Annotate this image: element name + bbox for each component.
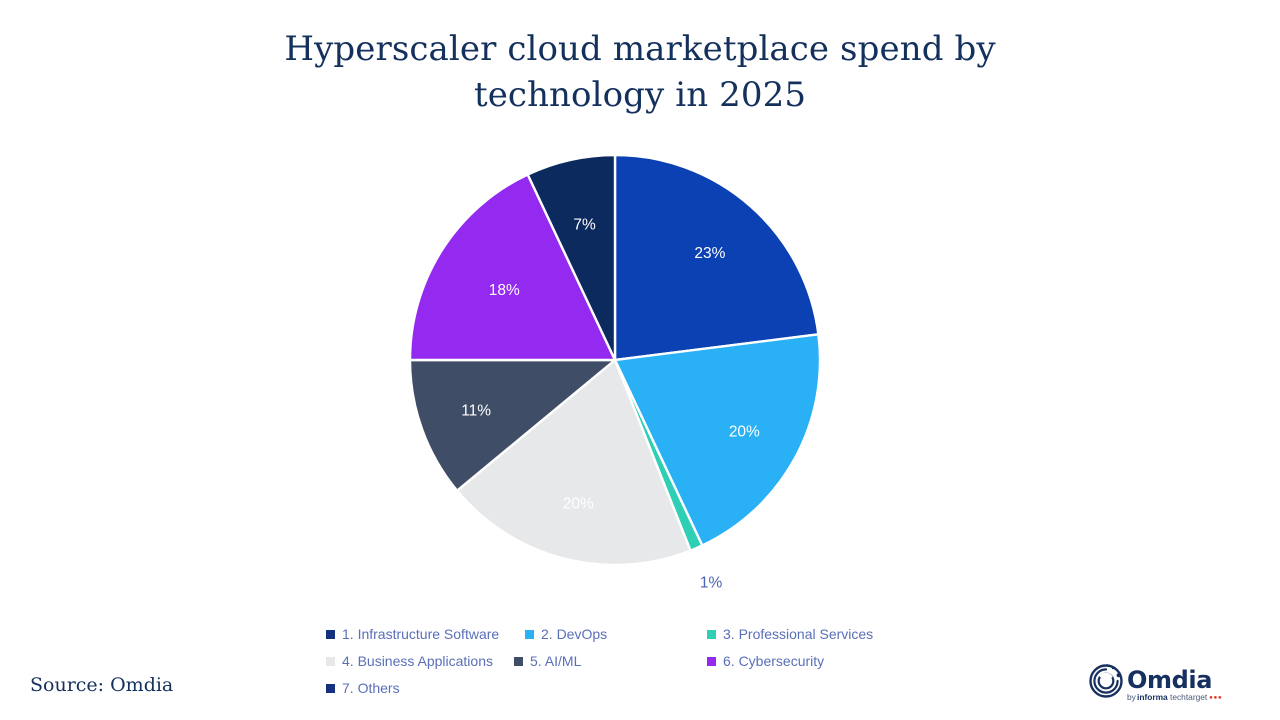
chart-title-line-1: Hyperscaler cloud marketplace spend by <box>284 29 995 69</box>
legend-label: 6. Cybersecurity <box>723 653 824 669</box>
pie-slice-label: 20% <box>729 424 760 441</box>
pie-slice-label: 7% <box>573 216 596 233</box>
legend-label: 3. Professional Services <box>723 626 873 642</box>
chart-legend: 1. Infrastructure Software 2. DevOps 3. … <box>326 622 926 694</box>
pie-slice-label: 23% <box>694 245 725 262</box>
svg-text:informa: informa <box>1137 692 1168 702</box>
pie-chart: 23%20%1%20%11%18%7% <box>380 128 850 598</box>
slide-canvas: Hyperscaler cloud marketplace spend by t… <box>0 0 1280 720</box>
legend-label: 7. Others <box>342 680 400 696</box>
legend-item-infrastructure-software[interactable]: 1. Infrastructure Software <box>326 626 499 642</box>
legend-item-ai-ml[interactable]: 5. AI/ML <box>514 653 581 669</box>
legend-swatch-icon <box>525 630 534 639</box>
omdia-logo-svg: Omdia by informa techtarget <box>1086 662 1222 704</box>
pie-slice-label: 20% <box>563 495 594 512</box>
legend-label: 2. DevOps <box>541 626 607 642</box>
svg-text:by: by <box>1127 692 1137 702</box>
legend-swatch-icon <box>514 657 523 666</box>
pie-slice-label: 18% <box>489 282 520 299</box>
omdia-wordmark: Omdia <box>1127 666 1212 694</box>
legend-item-cybersecurity[interactable]: 6. Cybersecurity <box>707 653 824 669</box>
legend-swatch-icon <box>326 684 335 693</box>
legend-swatch-icon <box>326 630 335 639</box>
legend-label: 5. AI/ML <box>530 653 581 669</box>
pie-slice-label: 11% <box>461 403 491 420</box>
legend-item-professional-services[interactable]: 3. Professional Services <box>707 626 873 642</box>
pie-slice-group <box>410 155 820 565</box>
page-title: Hyperscaler cloud marketplace spend by t… <box>190 26 1090 118</box>
legend-item-devops[interactable]: 2. DevOps <box>525 626 607 642</box>
legend-swatch-icon <box>326 657 335 666</box>
legend-item-others[interactable]: 7. Others <box>326 680 400 696</box>
pie-chart-svg: 23%20%1%20%11%18%7% <box>380 128 850 598</box>
legend-swatch-icon <box>707 657 716 666</box>
chart-title-line-2: technology in 2025 <box>474 75 806 115</box>
legend-swatch-icon <box>707 630 716 639</box>
legend-label: 1. Infrastructure Software <box>342 626 499 642</box>
pie-slice-label: 1% <box>700 575 723 592</box>
legend-item-business-applications[interactable]: 4. Business Applications <box>326 653 493 669</box>
legend-label: 4. Business Applications <box>342 653 493 669</box>
svg-text:techtarget: techtarget <box>1170 692 1208 702</box>
omdia-logo: Omdia by informa techtarget <box>1086 662 1222 704</box>
omdia-swirl-icon <box>1091 664 1122 696</box>
omdia-byline: by informa techtarget <box>1127 692 1221 702</box>
source-note: Source: Omdia <box>30 674 173 696</box>
